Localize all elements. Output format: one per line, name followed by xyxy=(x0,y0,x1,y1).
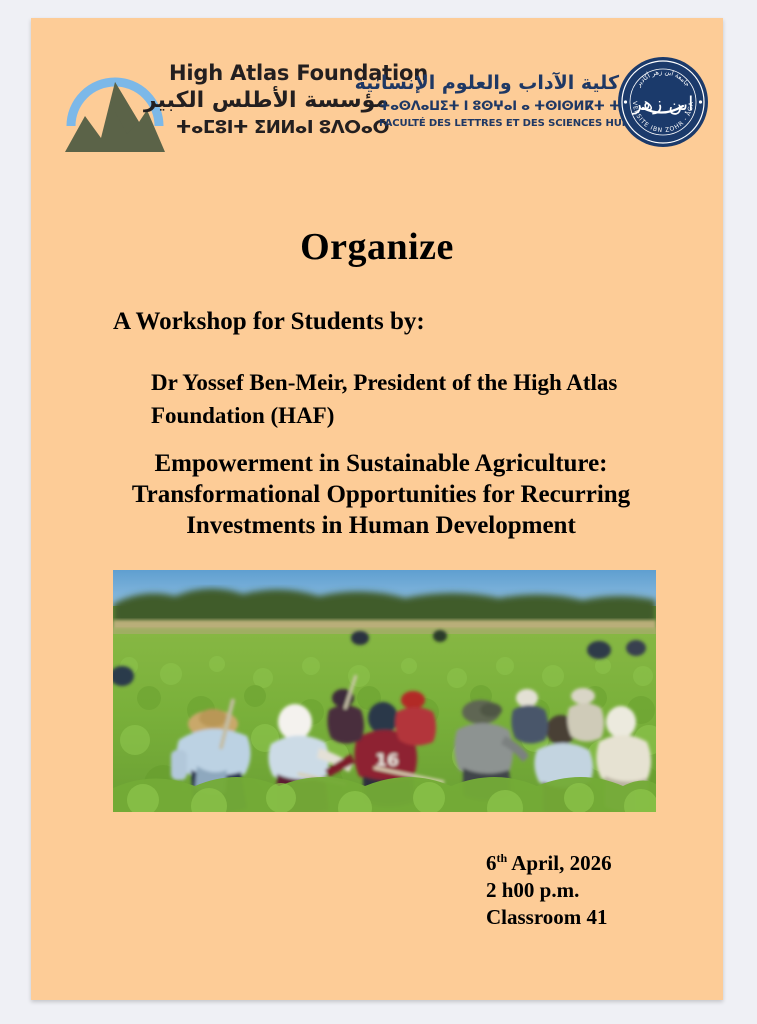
faculty-block: كلية الآداب والعلوم الإنسانية ⵜⴰⵙⴷⴰⵡⵉⵜ ⵏ… xyxy=(379,70,619,131)
event-date-ordinal: th xyxy=(497,851,508,865)
event-time: 2 h00 p.m. xyxy=(486,877,612,904)
workshop-subtitle: A Workshop for Students by: xyxy=(113,308,425,336)
faculty-name-ar: كلية الآداب والعلوم الإنسانية xyxy=(379,70,619,97)
event-date-rest: April, 2026 xyxy=(507,851,611,875)
talk-title: Empowerment in Sustainable Agriculture: … xyxy=(111,448,651,541)
faculty-name-fr: FACULTÉ DES LETTRES ET DES SCIENCES HUMA… xyxy=(379,116,619,131)
poster-root: High Atlas Foundation مؤسسة الأطلس الكبي… xyxy=(0,0,757,1024)
haf-name-tifinagh: ⵜⴰⵎⵓⵏⵜ ⵉⵍⵍⴰⵏ ⵓⴷⵔⴰⵔ xyxy=(169,116,389,140)
event-location: Classroom 41 xyxy=(486,904,612,931)
faculty-name-tifinagh: ⵜⴰⵙⴷⴰⵡⵉⵜ ⵏ ⵓⵙⵖⴰⵏ ⴰ ⵜⵙⵏⵙⵍⴽⵜ ⵜⵉⵏⴰⵎⵓⵏⵉⵏ xyxy=(379,97,619,116)
university-seal-icon: جامعة ابن زهر أكادير UNIVERSITE IBN ZOHR… xyxy=(617,56,709,148)
event-date: 6th April, 2026 xyxy=(486,850,612,877)
event-details: 6th April, 2026 2 h00 p.m. Classroom 41 xyxy=(486,850,612,931)
event-date-day: 6 xyxy=(486,851,497,875)
field-workers-photo: 16 xyxy=(113,570,656,812)
speaker-name: Dr Yossef Ben-Meir, President of the Hig… xyxy=(151,366,691,432)
page-title: Organize xyxy=(31,225,723,269)
poster-header: High Atlas Foundation مؤسسة الأطلس الكبي… xyxy=(31,18,723,148)
poster-page: High Atlas Foundation مؤسسة الأطلس الكبي… xyxy=(31,18,723,1000)
